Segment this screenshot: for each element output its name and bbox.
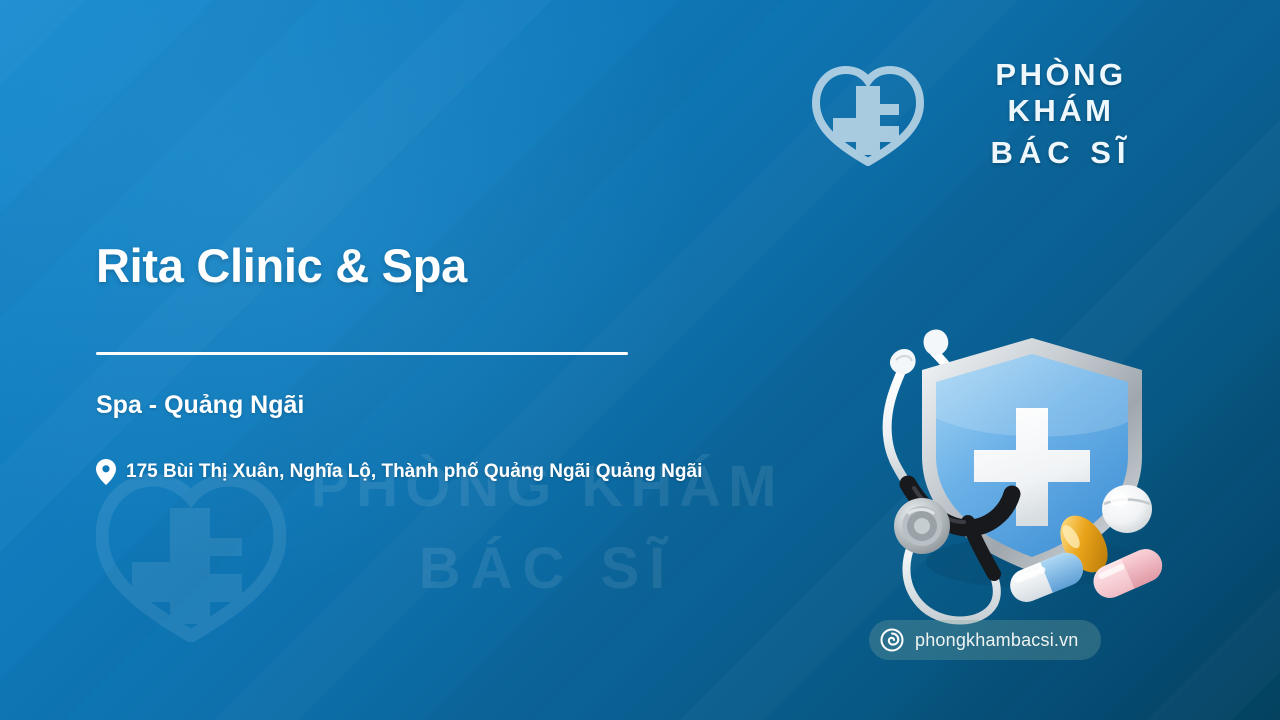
brand-line-1: PHÒNG KHÁM bbox=[938, 57, 1184, 129]
background-glow bbox=[0, 0, 720, 600]
globe-icon bbox=[880, 628, 904, 652]
brand-logo: PHÒNG KHÁM BÁC SĨ bbox=[812, 58, 1184, 170]
heart-cross-logo-icon bbox=[812, 62, 924, 166]
title-divider bbox=[96, 352, 628, 355]
watermark-line-2: BÁC SĨ bbox=[302, 538, 792, 600]
clinic-title: Rita Clinic & Spa bbox=[96, 238, 467, 293]
round-tablet bbox=[1102, 485, 1152, 533]
clinic-subtitle: Spa - Quảng Ngãi bbox=[96, 391, 304, 420]
website-badge[interactable]: phongkhambacsi.vn bbox=[869, 620, 1101, 660]
website-url: phongkhambacsi.vn bbox=[915, 630, 1079, 651]
clinic-address: 175 Bùi Thị Xuân, Nghĩa Lộ, Thành phố Qu… bbox=[126, 455, 702, 489]
heart-cross-watermark-icon bbox=[96, 464, 286, 642]
brand-line-2: BÁC SĨ bbox=[938, 135, 1184, 171]
location-pin-icon bbox=[96, 459, 116, 485]
medical-shield-stethoscope-pills-illustration bbox=[836, 316, 1188, 626]
brand-text: PHÒNG KHÁM BÁC SĨ bbox=[938, 57, 1184, 171]
stethoscope-chestpiece bbox=[894, 498, 950, 554]
clinic-address-row: 175 Bùi Thị Xuân, Nghĩa Lộ, Thành phố Qu… bbox=[96, 455, 786, 489]
clinic-banner: PHÒNG KHÁM BÁC SĨ PHÒNG KHÁM BÁC SĨ Rita… bbox=[0, 0, 1280, 720]
shield-with-cross bbox=[922, 338, 1142, 572]
